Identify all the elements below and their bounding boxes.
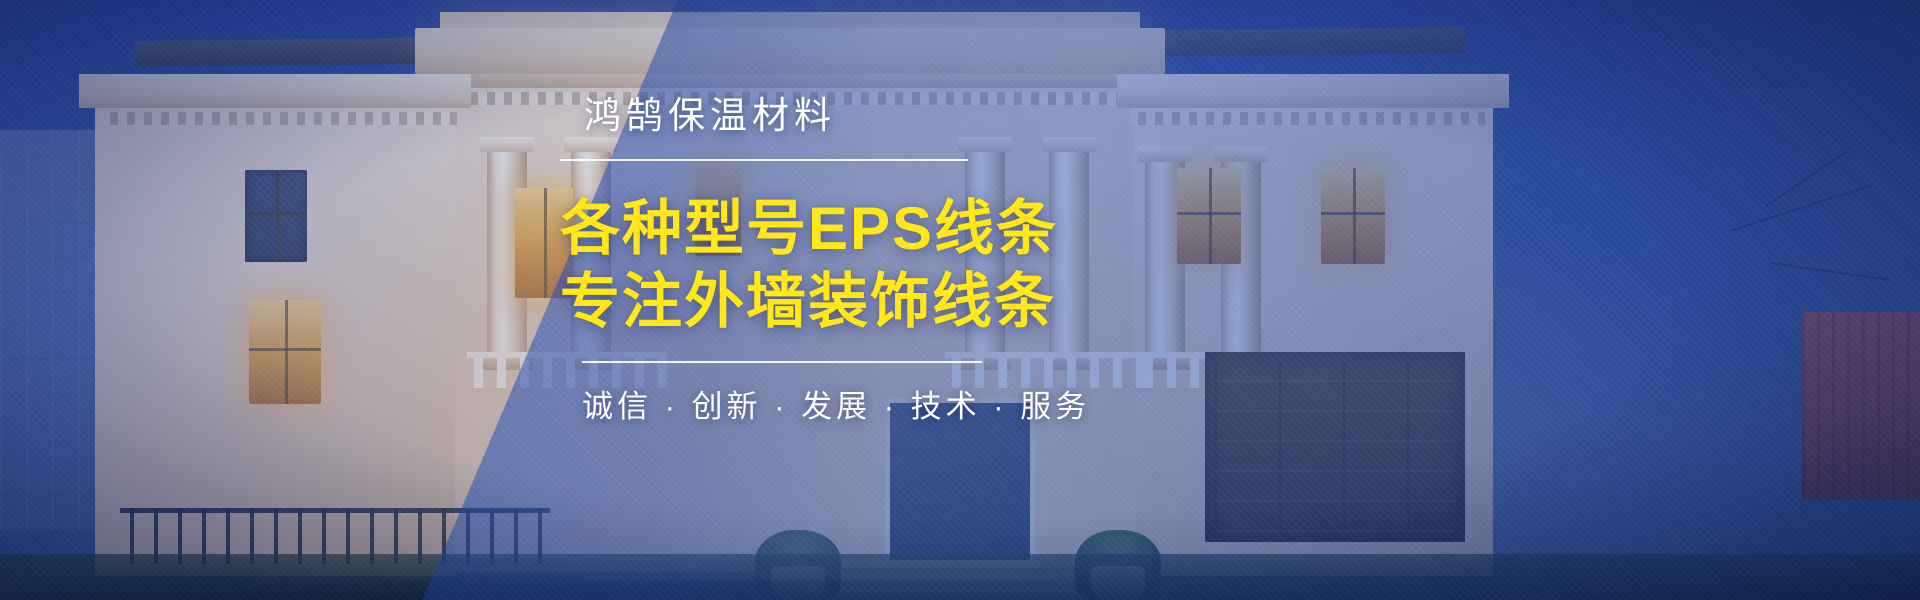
divider-bottom <box>582 361 982 363</box>
headline-line-2: 专注外墙装饰线条 <box>560 268 1460 335</box>
tagline: 诚信 · 创新 · 发展 · 技术 · 服务 <box>582 381 1460 426</box>
divider-top <box>560 159 968 161</box>
brand-name: 鸿鹄保温材料 <box>584 96 1460 137</box>
headline-line-1: 各种型号EPS线条 <box>560 195 1460 262</box>
promo-banner: 鸿鹄保温材料 各种型号EPS线条 专注外墙装饰线条 诚信 · 创新 · 发展 ·… <box>0 0 1920 600</box>
headline: 各种型号EPS线条 专注外墙装饰线条 <box>560 195 1460 335</box>
banner-copy: 鸿鹄保温材料 各种型号EPS线条 专注外墙装饰线条 诚信 · 创新 · 发展 ·… <box>560 96 1460 426</box>
